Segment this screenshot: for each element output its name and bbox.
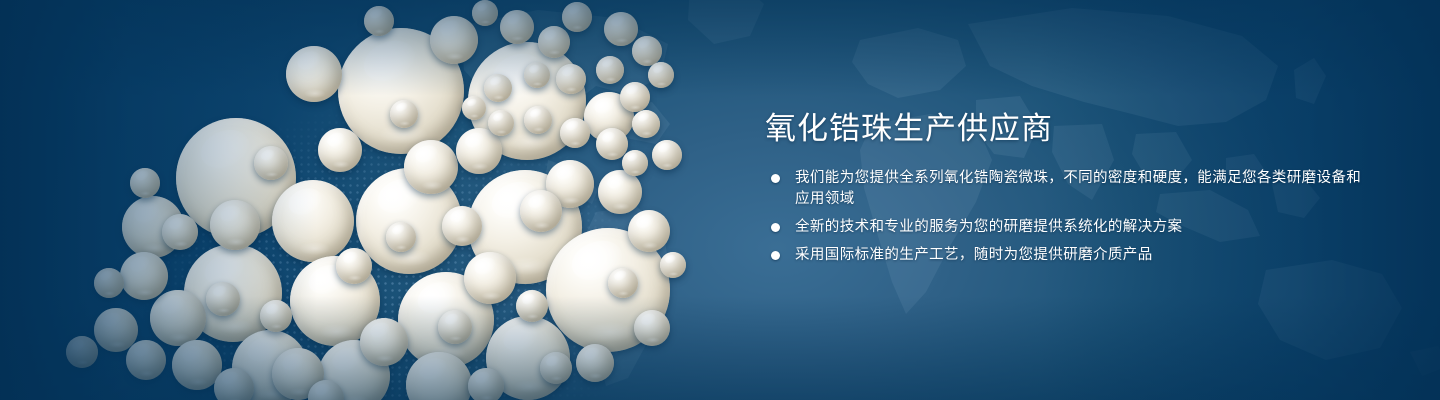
page-title: 氧化锆珠生产供应商 <box>765 110 1053 148</box>
list-item: 采用国际标准的生产工艺，随时为您提供研磨介质产品 <box>767 245 1367 266</box>
feature-list: 我们能为您提供全系列氧化锆陶瓷微珠，不同的密度和硬度，能满足您各类研磨设备和应用… <box>767 168 1367 266</box>
banner-content: 氧化锆珠生产供应商 我们能为您提供全系列氧化锆陶瓷微珠，不同的密度和硬度，能满足… <box>765 0 1385 400</box>
list-item-label: 我们能为您提供全系列氧化锆陶瓷微珠，不同的密度和硬度，能满足您各类研磨设备和应用… <box>795 168 1367 210</box>
bullet-dot-icon <box>771 174 780 183</box>
list-item: 我们能为您提供全系列氧化锆陶瓷微珠，不同的密度和硬度，能满足您各类研磨设备和应用… <box>767 168 1367 210</box>
list-item: 全新的技术和专业的服务为您的研磨提供系统化的解决方案 <box>767 217 1367 238</box>
bullet-dot-icon <box>771 223 780 232</box>
list-item-label: 采用国际标准的生产工艺，随时为您提供研磨介质产品 <box>795 245 1367 266</box>
hero-banner: 氧化锆珠生产供应商 我们能为您提供全系列氧化锆陶瓷微珠，不同的密度和硬度，能满足… <box>0 0 1440 400</box>
list-item-label: 全新的技术和专业的服务为您的研磨提供系统化的解决方案 <box>795 217 1367 238</box>
bullet-dot-icon <box>771 251 780 260</box>
